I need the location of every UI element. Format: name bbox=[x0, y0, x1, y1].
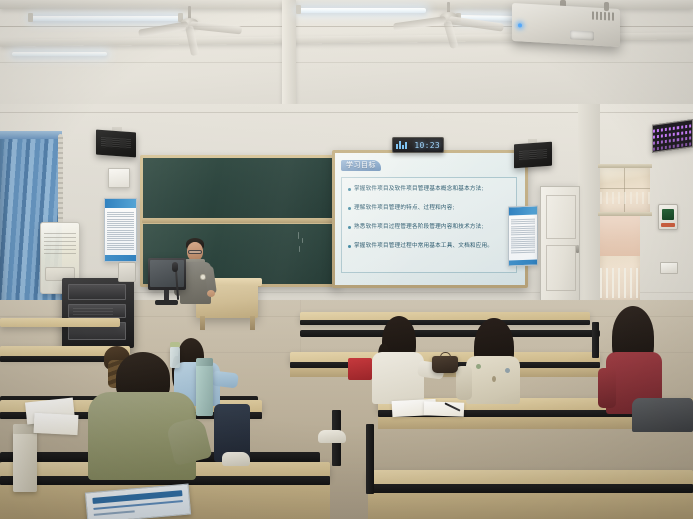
door-handle[interactable] bbox=[576, 245, 579, 253]
student-shoe bbox=[318, 430, 346, 443]
fluorescent-tube-2 bbox=[298, 8, 426, 13]
slide-bullet-item: 掌握软件项目及软件项目管理基本概念和基本方法; bbox=[348, 186, 483, 193]
student-mid-floral-arm bbox=[456, 366, 472, 400]
student-shoe bbox=[222, 452, 250, 466]
projector-lens bbox=[570, 30, 594, 40]
control-panel-screen bbox=[662, 209, 675, 221]
wall-box-left bbox=[108, 168, 130, 188]
red-bag bbox=[348, 358, 372, 380]
floral-pattern-dot bbox=[476, 364, 481, 369]
clock-indicator-bars bbox=[396, 141, 407, 149]
curtain-header bbox=[0, 131, 62, 139]
ceiling-pillar bbox=[282, 0, 296, 104]
instructor-glasses bbox=[188, 250, 202, 254]
podium-monitor[interactable] bbox=[148, 258, 186, 290]
chalkboard-upper-panel bbox=[143, 158, 337, 218]
window-upper-opening bbox=[600, 168, 650, 214]
slide-bullet-text: 理解软件项目管理的特点、过程和内容; bbox=[354, 205, 454, 212]
slide-bullet-item: 熟悉软件项目过程管理各阶段管理内容和技术方法; bbox=[348, 224, 483, 231]
tube-holder bbox=[296, 5, 301, 14]
desk-row-4-right-edge bbox=[368, 484, 693, 493]
wall-pillar-right bbox=[578, 104, 600, 300]
slide-title: 学习目标 bbox=[341, 160, 381, 171]
light-switch-plate[interactable] bbox=[660, 262, 678, 274]
thermos-bottle-mint bbox=[196, 364, 213, 416]
control-panel-strip bbox=[661, 223, 675, 227]
student-mid-left-blue-arm bbox=[211, 370, 239, 388]
window-lower-opening bbox=[600, 216, 640, 302]
slide-bullet-text: 掌握软件项目管理过程中常用基本工具、文档和应用。 bbox=[354, 243, 493, 250]
bullet-dot bbox=[348, 207, 351, 210]
classroom-notice-right bbox=[508, 205, 538, 266]
desk-divider-post bbox=[366, 424, 374, 494]
bullet-dot bbox=[348, 245, 351, 248]
projector-power-led bbox=[518, 23, 522, 27]
wall-speaker-left bbox=[96, 130, 136, 158]
fluorescent-tube-1 bbox=[30, 16, 180, 21]
student-mid-white-body bbox=[372, 352, 424, 404]
podium-leg bbox=[200, 316, 205, 330]
clock-time-text: 10:23 bbox=[414, 141, 440, 150]
handbag-handle bbox=[440, 352, 451, 358]
rack-top-device bbox=[118, 262, 136, 282]
fluorescent-tube-4 bbox=[12, 52, 107, 56]
loose-papers bbox=[34, 413, 79, 435]
slide-bullet-item: 掌握软件项目管理过程中常用基本工具、文档和应用。 bbox=[348, 243, 493, 250]
led-marquee-panel bbox=[652, 119, 693, 153]
handbag-on-desk bbox=[432, 356, 458, 373]
slide-bullet-text: 熟悉软件项目过程管理各阶段管理内容和技术方法; bbox=[354, 224, 483, 231]
desk-divider-post bbox=[592, 322, 599, 358]
tube-holder bbox=[28, 13, 33, 22]
desk-row-4-right-front bbox=[368, 493, 693, 519]
classroom-notice-left bbox=[104, 198, 137, 262]
student-right-bag bbox=[632, 398, 693, 432]
floral-pattern-dot bbox=[505, 368, 510, 373]
monitor-base bbox=[155, 300, 178, 305]
bench-back-row2 bbox=[300, 330, 600, 337]
ac-drain-pipe bbox=[58, 134, 63, 224]
window-frame-top bbox=[598, 164, 652, 168]
chalkboard-rail bbox=[142, 219, 338, 223]
bottle-cap bbox=[196, 358, 213, 366]
projection-screen: 学习目标 掌握软件项目及软件项目管理基本概念和基本方法; 理解软件项目管理的特点… bbox=[332, 150, 528, 288]
water-bottle-clear bbox=[170, 346, 180, 368]
slide-bullet-text: 掌握软件项目及软件项目管理基本概念和基本方法; bbox=[354, 186, 483, 193]
classroom-door[interactable] bbox=[540, 186, 580, 302]
gooseneck-microphone-head[interactable] bbox=[172, 262, 178, 272]
podium-leg bbox=[250, 316, 255, 330]
wall-speaker-right bbox=[514, 142, 552, 169]
poster-text-lines bbox=[511, 219, 535, 254]
bullet-dot bbox=[348, 188, 351, 191]
classroom-scene: 学习目标 掌握软件项目及软件项目管理基本概念和基本方法; 理解软件项目管理的特点… bbox=[0, 0, 693, 519]
wall-control-panel[interactable] bbox=[658, 204, 678, 230]
ceiling-seam bbox=[0, 62, 693, 63]
bullet-dot bbox=[348, 226, 351, 229]
thermos-bottle-cream bbox=[13, 430, 37, 492]
instructor-hand bbox=[207, 290, 215, 297]
projected-slide: 学习目标 掌握软件项目及软件项目管理基本概念和基本方法; 理解软件项目管理的特点… bbox=[335, 153, 525, 285]
bottle-cap bbox=[170, 342, 180, 347]
floral-pattern-dot bbox=[492, 376, 496, 382]
student-right-maroon-arm bbox=[598, 368, 616, 408]
projector-vent bbox=[592, 11, 614, 20]
rack-unit[interactable] bbox=[68, 304, 126, 318]
av-equipment-cabinet[interactable] bbox=[62, 278, 134, 348]
digital-wall-clock: 10:23 bbox=[392, 137, 444, 153]
desk-row-1-edge bbox=[300, 320, 590, 325]
desk-row-1 bbox=[0, 318, 120, 327]
slide-body: 掌握软件项目及软件项目管理基本概念和基本方法; 理解软件项目管理的特点、过程和内… bbox=[341, 177, 517, 273]
projector-mount-arm bbox=[604, 2, 609, 11]
poster-text-lines bbox=[107, 212, 133, 250]
slide-bullet-item: 理解软件项目管理的特点、过程和内容; bbox=[348, 205, 454, 212]
rack-unit[interactable] bbox=[68, 284, 126, 300]
